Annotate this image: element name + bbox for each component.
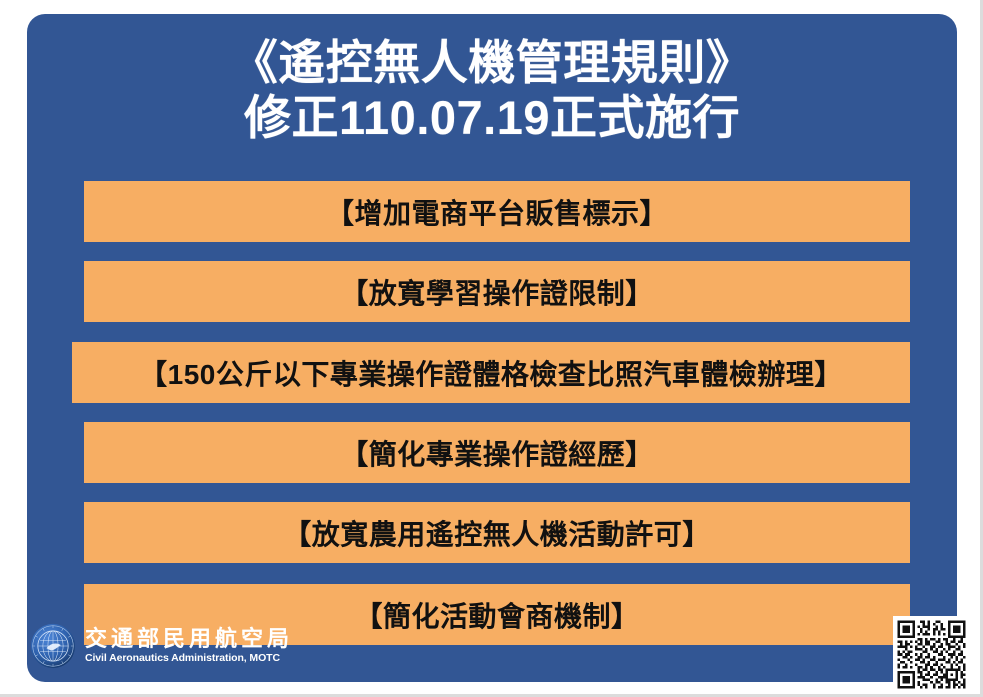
title-line-primary: 《遙控無人機管理規則》: [27, 38, 957, 89]
rule-bar-4-label: 【簡化專業操作證經歷】: [340, 433, 654, 473]
rule-bar-3-label: 【150公斤以下專業操作證體格檢查比照汽車體檢辦理】: [139, 353, 843, 393]
agency-name-block: 交通部民用航空局 Civil Aeronautics Administratio…: [85, 628, 293, 664]
page-title: 《遙控無人機管理規則》 修正110.07.19正式施行: [27, 38, 957, 144]
qr-code-icon[interactable]: [893, 616, 970, 693]
rule-bar-5-label: 【放寬農用遙控無人機活動許可】: [283, 513, 711, 553]
qr-code-graphic: [895, 618, 968, 691]
rule-bar-3: 【150公斤以下專業操作證體格檢查比照汽車體檢辦理】: [72, 342, 910, 403]
rule-bar-2: 【放寬學習操作證限制】: [84, 261, 910, 322]
agency-name-english: Civil Aeronautics Administration, MOTC: [85, 653, 293, 664]
agency-name-chinese: 交通部民用航空局: [85, 628, 293, 650]
rule-bar-4: 【簡化專業操作證經歷】: [84, 422, 910, 483]
poster-page: 《遙控無人機管理規則》 修正110.07.19正式施行 【增加電商平台販售標示】…: [0, 0, 983, 697]
rule-bar-1-label: 【增加電商平台販售標示】: [326, 192, 668, 232]
rule-bar-1: 【增加電商平台販售標示】: [84, 181, 910, 242]
rule-bar-6-label: 【簡化活動會商機制】: [354, 595, 639, 635]
rule-bar-2-label: 【放寬學習操作證限制】: [340, 272, 654, 312]
rule-bar-5: 【放寬農用遙控無人機活動許可】: [84, 502, 910, 563]
title-line-secondary: 修正110.07.19正式施行: [27, 93, 957, 144]
agency-logo-lockup: 交通部民用航空局 Civil Aeronautics Administratio…: [30, 623, 293, 669]
globe-emblem-icon: [30, 623, 76, 669]
